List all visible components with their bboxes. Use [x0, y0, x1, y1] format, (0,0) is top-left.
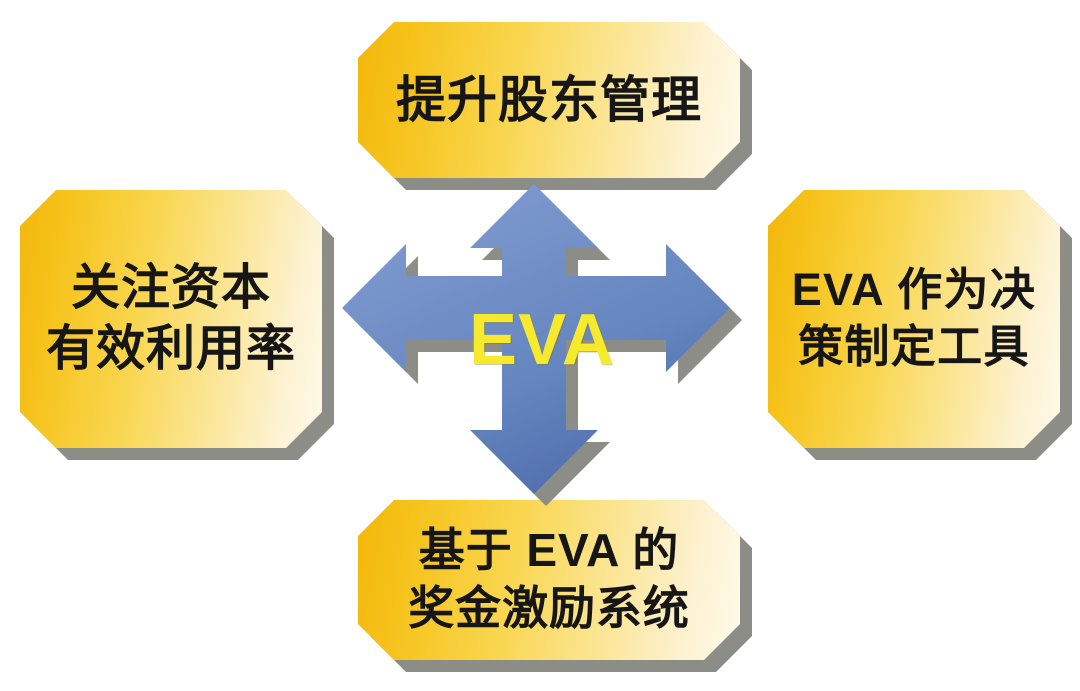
callout-box-top[interactable]: 提升股东管理 [358, 22, 740, 178]
box-right-text: EVA 作为决 策制定工具 [778, 262, 1050, 375]
diagram-canvas: 提升股东管理 关注资本 有效利用率 EVA 作为决 策制定工具 基于 EVA 的… [0, 0, 1080, 691]
box-left-line-2: 有效利用率 [46, 319, 296, 380]
box-left-line-1: 关注资本 [46, 258, 296, 319]
box-bottom-line-1: 基于 EVA 的 [408, 522, 690, 580]
four-way-arrow-body [342, 184, 730, 494]
callout-box-bottom[interactable]: 基于 EVA 的 奖金激励系统 [358, 500, 740, 660]
callout-box-left[interactable]: 关注资本 有效利用率 [20, 190, 322, 448]
four-way-arrow-icon[interactable] [336, 180, 752, 504]
box-bottom-text: 基于 EVA 的 奖金激励系统 [394, 522, 704, 638]
callout-box-right[interactable]: EVA 作为决 策制定工具 [768, 190, 1060, 448]
box-right-line-1: EVA 作为决 [792, 262, 1036, 319]
box-top-text: 提升股东管理 [382, 71, 716, 130]
box-top-line-1: 提升股东管理 [396, 71, 702, 130]
box-left-text: 关注资本 有效利用率 [32, 258, 310, 380]
box-bottom-line-2: 奖金激励系统 [408, 580, 690, 638]
box-right-line-2: 策制定工具 [792, 319, 1036, 376]
